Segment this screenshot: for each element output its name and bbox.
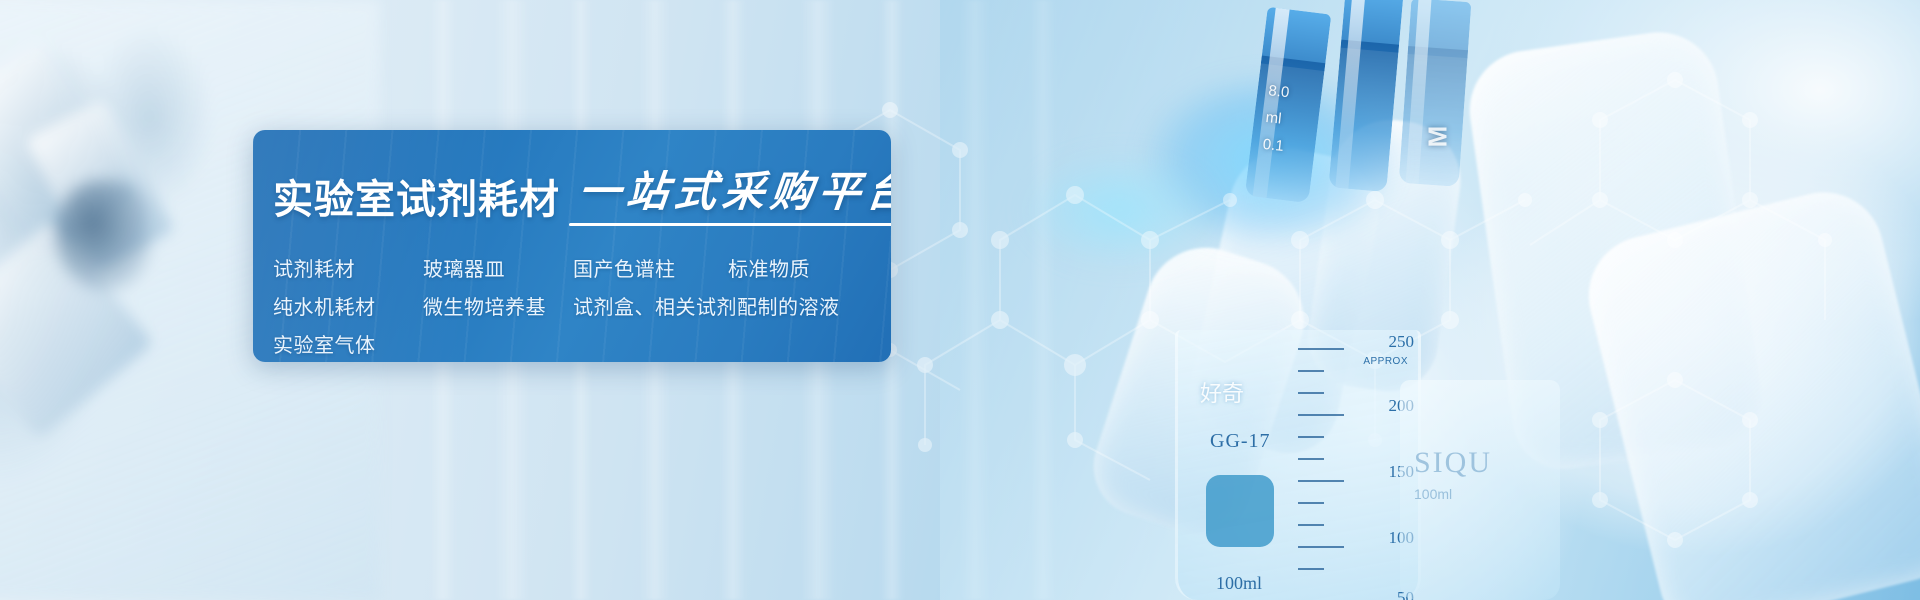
test-tube-cap (1408, 0, 1472, 58)
beaker-graduation-marks (1298, 348, 1358, 588)
beaker-label-150: 150 (1389, 462, 1415, 482)
category-item-reagent-kits-and-solutions[interactable]: 试剂盒、相关试剂配制的溶液 (573, 291, 840, 320)
headline-script-text: 一站式采购平台 (569, 172, 891, 220)
finger-3 (1081, 232, 1320, 548)
blurred-tube-3 (0, 221, 154, 440)
bottle-volume-label: 100ml (1414, 486, 1452, 502)
category-item-laboratory-gases[interactable]: 实验室气体 (273, 329, 423, 358)
tube-glow-secondary (1020, 150, 1220, 270)
lab-reagent-banner: 8.0 ml 0.1 M (0, 0, 1920, 600)
tube-mark-0: 8.0 (1267, 77, 1329, 110)
category-item-water-purifier-consumables[interactable]: 纯水机耗材 (273, 291, 423, 320)
test-tube-body (1245, 56, 1326, 203)
finger-4 (1462, 25, 1768, 476)
test-tube-cap (1341, 0, 1404, 53)
category-item-reagent-consumables[interactable]: 试剂耗材 (273, 253, 423, 282)
finger-2 (1302, 112, 1468, 397)
tube-mark-1: ml (1264, 104, 1326, 137)
reagent-bottle: SIQU 100ml (1400, 380, 1560, 600)
headline-bold-text: 实验室试剂耗材 (273, 180, 560, 220)
test-tube-b (1328, 0, 1403, 192)
category-list: 试剂耗材 玻璃器皿 国产色谱柱 标准物质 纯水机耗材 微生物培养基 试剂盒、相关… (273, 248, 891, 362)
beaker-brand-cn: 好奇 (1200, 376, 1244, 408)
beaker-model-label: GG-17 (1210, 430, 1271, 453)
forearm (1576, 180, 1920, 600)
beaker-blue-patch (1206, 475, 1274, 547)
test-tube-c (1399, 0, 1472, 187)
category-row-3: 实验室气体 (273, 324, 891, 362)
test-tube-gloss (1335, 0, 1365, 189)
beaker-approx-label: APPROX (1363, 356, 1408, 367)
test-tube-gloss (1252, 8, 1289, 198)
category-item-domestic-chromatography-column[interactable]: 国产色谱柱 (573, 253, 728, 282)
tube-mark-2: 0.1 (1261, 131, 1323, 164)
blurred-dark-blob (55, 180, 150, 290)
beaker-label-200: 200 (1389, 396, 1415, 416)
beaker: 250 200 150 100 50 APPROX 好奇 GG-17 100ml (1175, 330, 1421, 600)
blurred-tube-2 (25, 98, 175, 273)
test-tube-graduation-labels: 8.0 ml 0.1 (1258, 77, 1329, 193)
beaker-label-100: 100 (1389, 528, 1415, 548)
test-tube-gloss (1406, 0, 1432, 184)
beaker-label-250: 250 (1389, 332, 1415, 352)
tube-glow (1140, 70, 1400, 250)
category-row-1: 试剂耗材 玻璃器皿 国产色谱柱 标准物质 (273, 248, 891, 286)
category-item-glassware[interactable]: 玻璃器皿 (423, 253, 573, 282)
test-tube-a (1245, 7, 1332, 203)
test-tube-body (1328, 40, 1399, 192)
headline: 实验室试剂耗材 一站式采购平台 (273, 162, 891, 220)
promo-panel: 实验室试剂耗材 一站式采购平台 试剂耗材 玻璃器皿 国产色谱柱 标准物质 纯水机… (253, 130, 891, 362)
gloved-hands (940, 0, 1920, 600)
category-row-2: 纯水机耗材 微生物培养基 试剂盒、相关试剂配制的溶液 (273, 286, 891, 324)
bottle-brand-label: SIQU (1414, 446, 1492, 480)
beaker-label-50: 50 (1397, 588, 1414, 600)
test-tube-vertical-label: M (1423, 124, 1454, 148)
blurred-tube-1 (0, 42, 140, 258)
test-tube-cap (1261, 7, 1331, 71)
category-item-reference-material[interactable]: 标准物质 (728, 253, 810, 282)
beaker-volume-label: 100ml (1216, 573, 1262, 594)
test-tube-body (1399, 46, 1468, 187)
category-item-microbial-culture-media[interactable]: 微生物培养基 (423, 291, 573, 320)
finger-1 (1180, 138, 1389, 463)
